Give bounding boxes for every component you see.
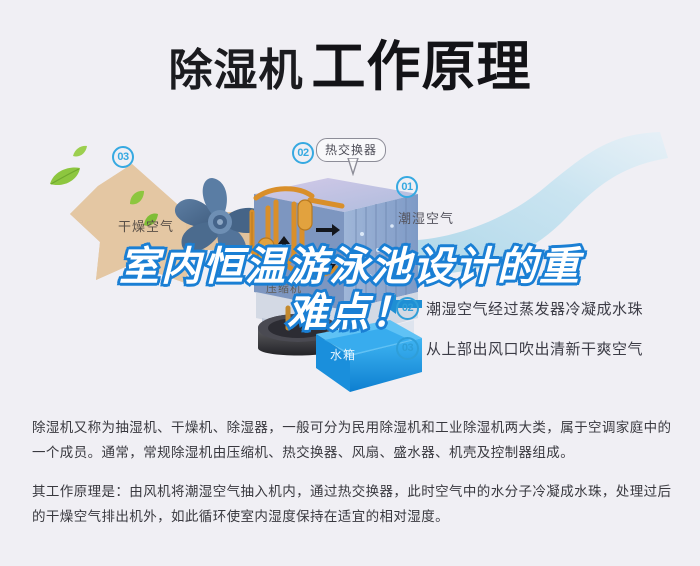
list-item: 02 潮湿空气经过蒸发器冷凝成水珠 (396, 288, 696, 328)
leaf-icon (48, 166, 82, 188)
step-badge: 02 (396, 297, 419, 320)
callout-pointer-icon (346, 158, 360, 176)
label-dry-air: 干燥空气 (118, 216, 174, 235)
leaf-icon (72, 145, 88, 159)
step-list: 02 潮湿空气经过蒸发器冷凝成水珠 03 从上部出风口吹出清新干爽空气 (396, 288, 696, 368)
badge-humid-air: 01 (396, 176, 418, 198)
step-text: 从上部出风口吹出清新干爽空气 (426, 338, 643, 359)
leaf-icon (128, 190, 146, 206)
body-copy: 除湿机又称为抽湿机、干燥机、除湿器，一般可分为民用除湿机和工业除湿机两大类，属于… (32, 415, 672, 543)
step-badge: 03 (396, 337, 419, 360)
page-title-part2: 工作原理 (312, 37, 532, 97)
page-title-part1: 除湿机 (169, 46, 304, 95)
label-compressor: 压缩机 (266, 280, 302, 296)
paragraph-definition: 除湿机又称为抽湿机、干燥机、除湿器，一般可分为民用除湿机和工业除湿机两大类，属于… (32, 415, 672, 465)
badge-dry-air: 03 (112, 146, 134, 168)
infographic-page: 除湿机工作原理 (0, 0, 700, 566)
page-title: 除湿机工作原理 (0, 22, 700, 101)
label-water-tank: 水箱 (330, 346, 356, 363)
list-item: 03 从上部出风口吹出清新干爽空气 (396, 328, 696, 368)
step-text: 潮湿空气经过蒸发器冷凝成水珠 (426, 298, 643, 319)
paragraph-principle: 其工作原理是：由风机将潮湿空气抽入机内，通过热交换器，此时空气中的水分子冷凝成水… (32, 479, 672, 529)
badge-heat-exchanger: 02 (292, 142, 314, 164)
label-humid-air: 潮湿空气 (398, 208, 454, 227)
